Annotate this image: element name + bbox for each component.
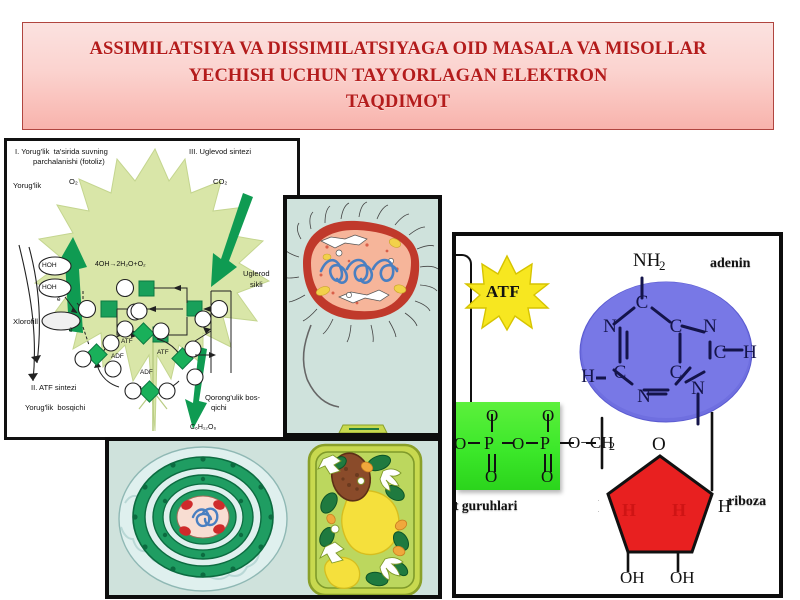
- hoh-label-2: HOH: [42, 284, 57, 292]
- carbon-cycle-label-1: Uglerod: [243, 269, 270, 278]
- ribose-h-left: H: [598, 496, 599, 516]
- title-line-1: ASSIMILATSIYA VA DISSIMILATSIYAGA OID MA…: [89, 39, 706, 59]
- adenine-atom-c3: C: [670, 362, 683, 383]
- photolysis-equation: 4OH→2H₂O+O₂: [95, 261, 146, 270]
- adenine-label: adenin: [710, 256, 750, 272]
- photosynthesis-panel: I. Yorug'lik ta'sirida suvning parchalan…: [4, 138, 300, 440]
- prokaryote-cell-panel: [283, 195, 442, 437]
- ribose-oh-right: OH: [670, 568, 695, 588]
- phosphate-o-up-2: O: [542, 406, 554, 426]
- phosphate-o-up-1: O: [486, 406, 498, 426]
- cells-graphic: [109, 441, 439, 596]
- dark-phase-label-2: qichi: [211, 403, 227, 412]
- adenine-atom-c2: C: [614, 362, 627, 383]
- phosphate-p2: P: [540, 433, 550, 454]
- title-line-3: TAQDIMOT: [346, 92, 450, 112]
- light-phase-label: Yorug'lik bosqichi: [25, 403, 85, 412]
- stage-1-label: I. Yorug'lik ta'sirida suvning: [15, 147, 108, 156]
- stage-3-label: III. Uglevod sintezi: [189, 147, 251, 156]
- stage-2-label: II. ATF sintezi: [31, 383, 76, 392]
- cells-panel: [105, 437, 442, 599]
- adenine-atom-c5: C: [714, 342, 727, 363]
- phosphate-o-down-2: O: [541, 467, 553, 487]
- electron-label-2: ē: [69, 327, 73, 335]
- title-line-2: YECHISH UCHUN TAYYORLAGAN ELEKTRON: [189, 66, 608, 86]
- adenine-atom-h-right: H: [743, 342, 757, 363]
- adenine-nh2-subscript: 2: [659, 258, 666, 274]
- title-banner: ASSIMILATSIYA VA DISSIMILATSIYAGA OID MA…: [22, 22, 774, 130]
- atf-starburst: ATF: [464, 254, 550, 332]
- adf-label-1: ADF: [111, 353, 124, 361]
- adf-label-2: ADF: [140, 369, 153, 377]
- ribose-h-inner-left: H: [622, 500, 636, 520]
- carbon-cycle-label-2: sikli: [250, 280, 263, 289]
- ribose-h-inner-right: H: [672, 500, 686, 520]
- electron-label-1: ē: [57, 296, 61, 304]
- adenine-atom-n3: N: [703, 316, 717, 337]
- stage-1b-label: parchalanishi (fotoliz): [33, 157, 105, 166]
- phosphate-groups-label: t guruhlari: [454, 498, 517, 514]
- adenine-atom-c1: C: [636, 292, 649, 313]
- presentation-slide: ASSIMILATSIYA VA DISSIMILATSIYAGA OID MA…: [0, 0, 800, 600]
- ribose-label: riboza: [728, 494, 766, 510]
- dark-phase-label-1: Qorong'ulik bos-: [205, 393, 260, 402]
- adenine-atom-n4: N: [691, 378, 705, 399]
- glucose-label: C₆H₁₂O₆: [190, 424, 216, 433]
- adenine-atom-h-left: H: [581, 366, 595, 387]
- atp-panel: ATF: [452, 232, 783, 598]
- atf-label-1: ATF: [121, 338, 133, 346]
- atf-star-label: ATF: [486, 282, 520, 302]
- light-label: Yorug'lik: [13, 181, 41, 190]
- ribose-graphic: O H H H H: [598, 412, 783, 572]
- adenine-nh2: NH: [633, 250, 660, 272]
- atf-label-2: ATF: [157, 349, 169, 357]
- phosphate-p1: P: [484, 433, 494, 454]
- adenine-atom-c4: C: [670, 316, 683, 337]
- prokaryote-cell-graphic: [287, 199, 439, 434]
- hoh-label-1: HOH: [42, 262, 57, 270]
- adenine-atom-n2: N: [637, 386, 651, 407]
- phosphate-o-mid: O: [512, 434, 524, 454]
- chlorophyll-label: Xlorofill: [13, 317, 38, 326]
- phosphate-o-down-1: O: [485, 467, 497, 487]
- ribose-o-top: O: [652, 434, 666, 455]
- phosphate-o-left: O: [454, 434, 466, 454]
- co2-label: CO₂: [213, 177, 227, 186]
- o2-label: O₂: [69, 177, 78, 186]
- ribose-oh-left: OH: [620, 568, 645, 588]
- adenine-atom-n1: N: [603, 316, 617, 337]
- page-title: ASSIMILATSIYA VA DISSIMILATSIYAGA OID MA…: [38, 36, 758, 116]
